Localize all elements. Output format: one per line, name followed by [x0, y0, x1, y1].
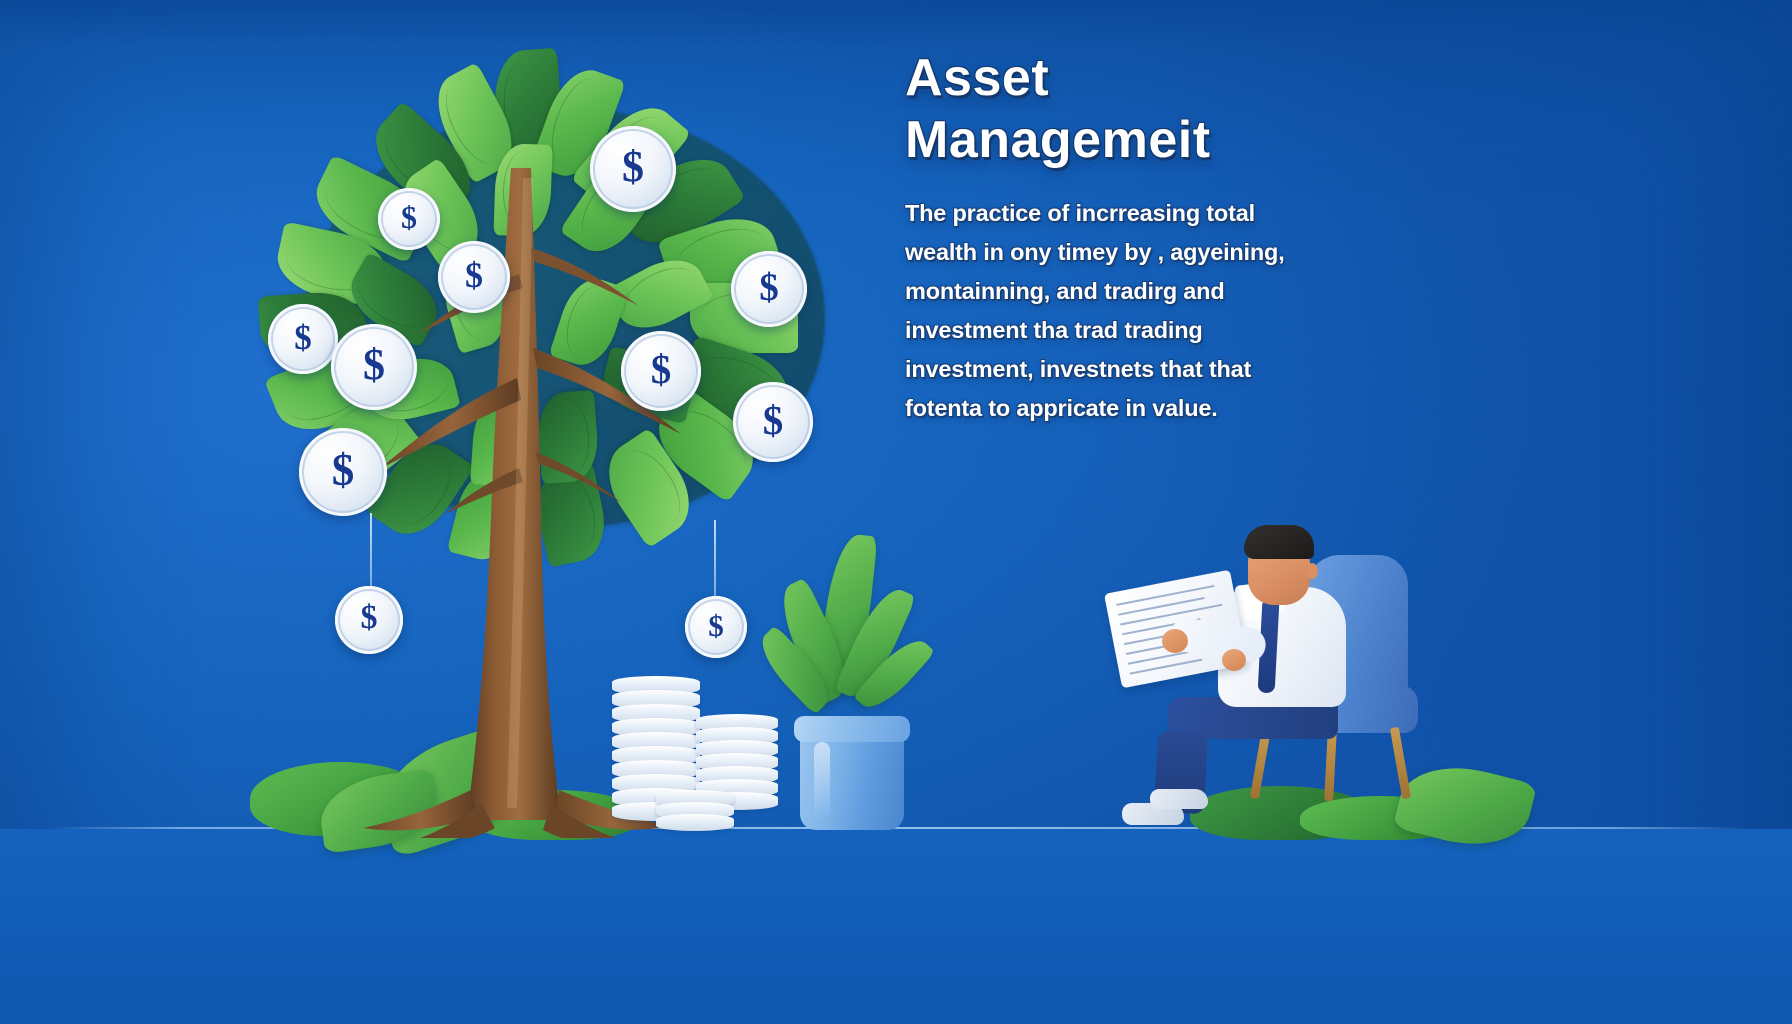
coin-dollar: $: [378, 188, 440, 250]
coin-hanger-string-left: [370, 513, 372, 593]
shoe: [1150, 789, 1208, 809]
coin-dollar: $: [731, 251, 807, 327]
hand: [1222, 649, 1246, 671]
coin-symbol: $: [332, 448, 355, 493]
coin-symbol: $: [651, 349, 672, 390]
coin-symbol: $: [759, 268, 779, 307]
coin-symbol: $: [401, 201, 417, 233]
coin-dollar: $: [733, 382, 813, 462]
illustration-canvas: $ $ $ $ $ $ $ $ $ $ $: [0, 0, 1792, 1024]
coin-symbol: $: [361, 601, 378, 635]
pot-rim: [794, 716, 910, 742]
coin-dollar: $: [299, 428, 387, 516]
coin-hanger-string-right: [714, 520, 716, 602]
hanging-coin-dollar: $: [335, 586, 403, 654]
coin-dollar: $: [331, 324, 417, 410]
title-line-2: Managemeit: [905, 108, 1355, 172]
ear: [1306, 563, 1318, 579]
coin-disc: [656, 814, 734, 831]
coin-symbol: $: [622, 145, 644, 189]
description-line: wealth in ony timey by , agyeining,: [905, 233, 1355, 272]
description-line: The practice of incrreasing total: [905, 194, 1355, 233]
description-line: montainning, and tradirg and: [905, 272, 1355, 311]
stacked-coins: [612, 672, 802, 832]
coin-dollar: $: [438, 241, 510, 313]
description-paragraph: The practice of incrreasing total wealth…: [905, 194, 1355, 428]
coin-symbol: $: [763, 400, 784, 441]
coin-dollar: $: [621, 331, 701, 411]
ground-plane: [0, 829, 1792, 1024]
seated-businessman: [1110, 545, 1450, 835]
description-line: investment tha trad trading: [905, 311, 1355, 350]
armchair-leg: [1324, 729, 1337, 801]
coin-symbol: $: [708, 610, 724, 641]
coin-symbol: $: [294, 320, 312, 355]
coin-symbol: $: [363, 343, 385, 387]
description-line: investment, investnets that that: [905, 350, 1355, 389]
pot-highlight: [814, 742, 830, 820]
coin-dollar: $: [590, 126, 676, 212]
hand: [1162, 629, 1188, 653]
description-line: fotenta to appricate in value.: [905, 389, 1355, 428]
hair: [1244, 525, 1314, 559]
title-line-1: Asset: [905, 49, 1049, 107]
text-panel: Asset Managemeit The practice of incrrea…: [905, 46, 1355, 428]
coin-dollar: $: [268, 304, 338, 374]
coin-symbol: $: [465, 257, 483, 293]
armchair-leg: [1390, 727, 1411, 799]
hanging-coin-dollar: $: [685, 596, 747, 658]
page-title: Asset Managemeit: [905, 46, 1355, 172]
potted-plant: [800, 702, 910, 832]
